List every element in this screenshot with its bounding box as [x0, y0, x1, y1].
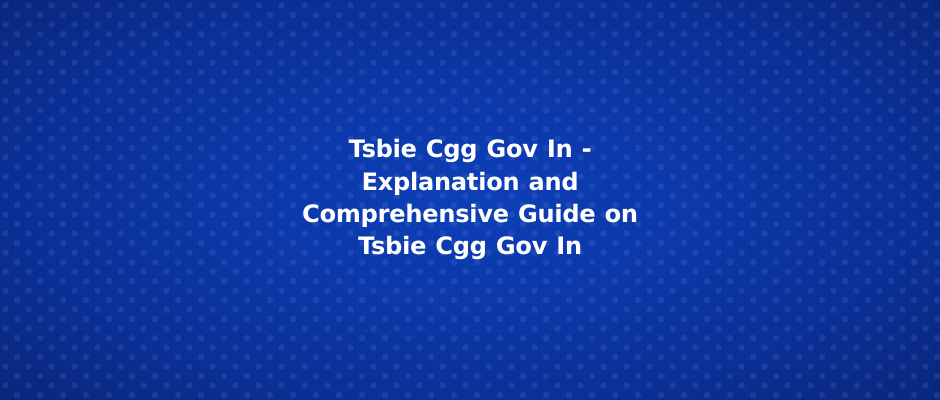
- title-line-3: Comprehensive Guide on: [40, 198, 900, 230]
- title-line-4: Tsbie Cgg Gov In: [40, 230, 900, 262]
- title-line-1: Tsbie Cgg Gov In -: [40, 133, 900, 165]
- hero-banner: Tsbie Cgg Gov In - Explanation and Compr…: [0, 0, 940, 400]
- page-title: Tsbie Cgg Gov In - Explanation and Compr…: [40, 133, 900, 262]
- title-line-2: Explanation and: [40, 166, 900, 198]
- banner-content: Tsbie Cgg Gov In - Explanation and Compr…: [40, 133, 900, 266]
